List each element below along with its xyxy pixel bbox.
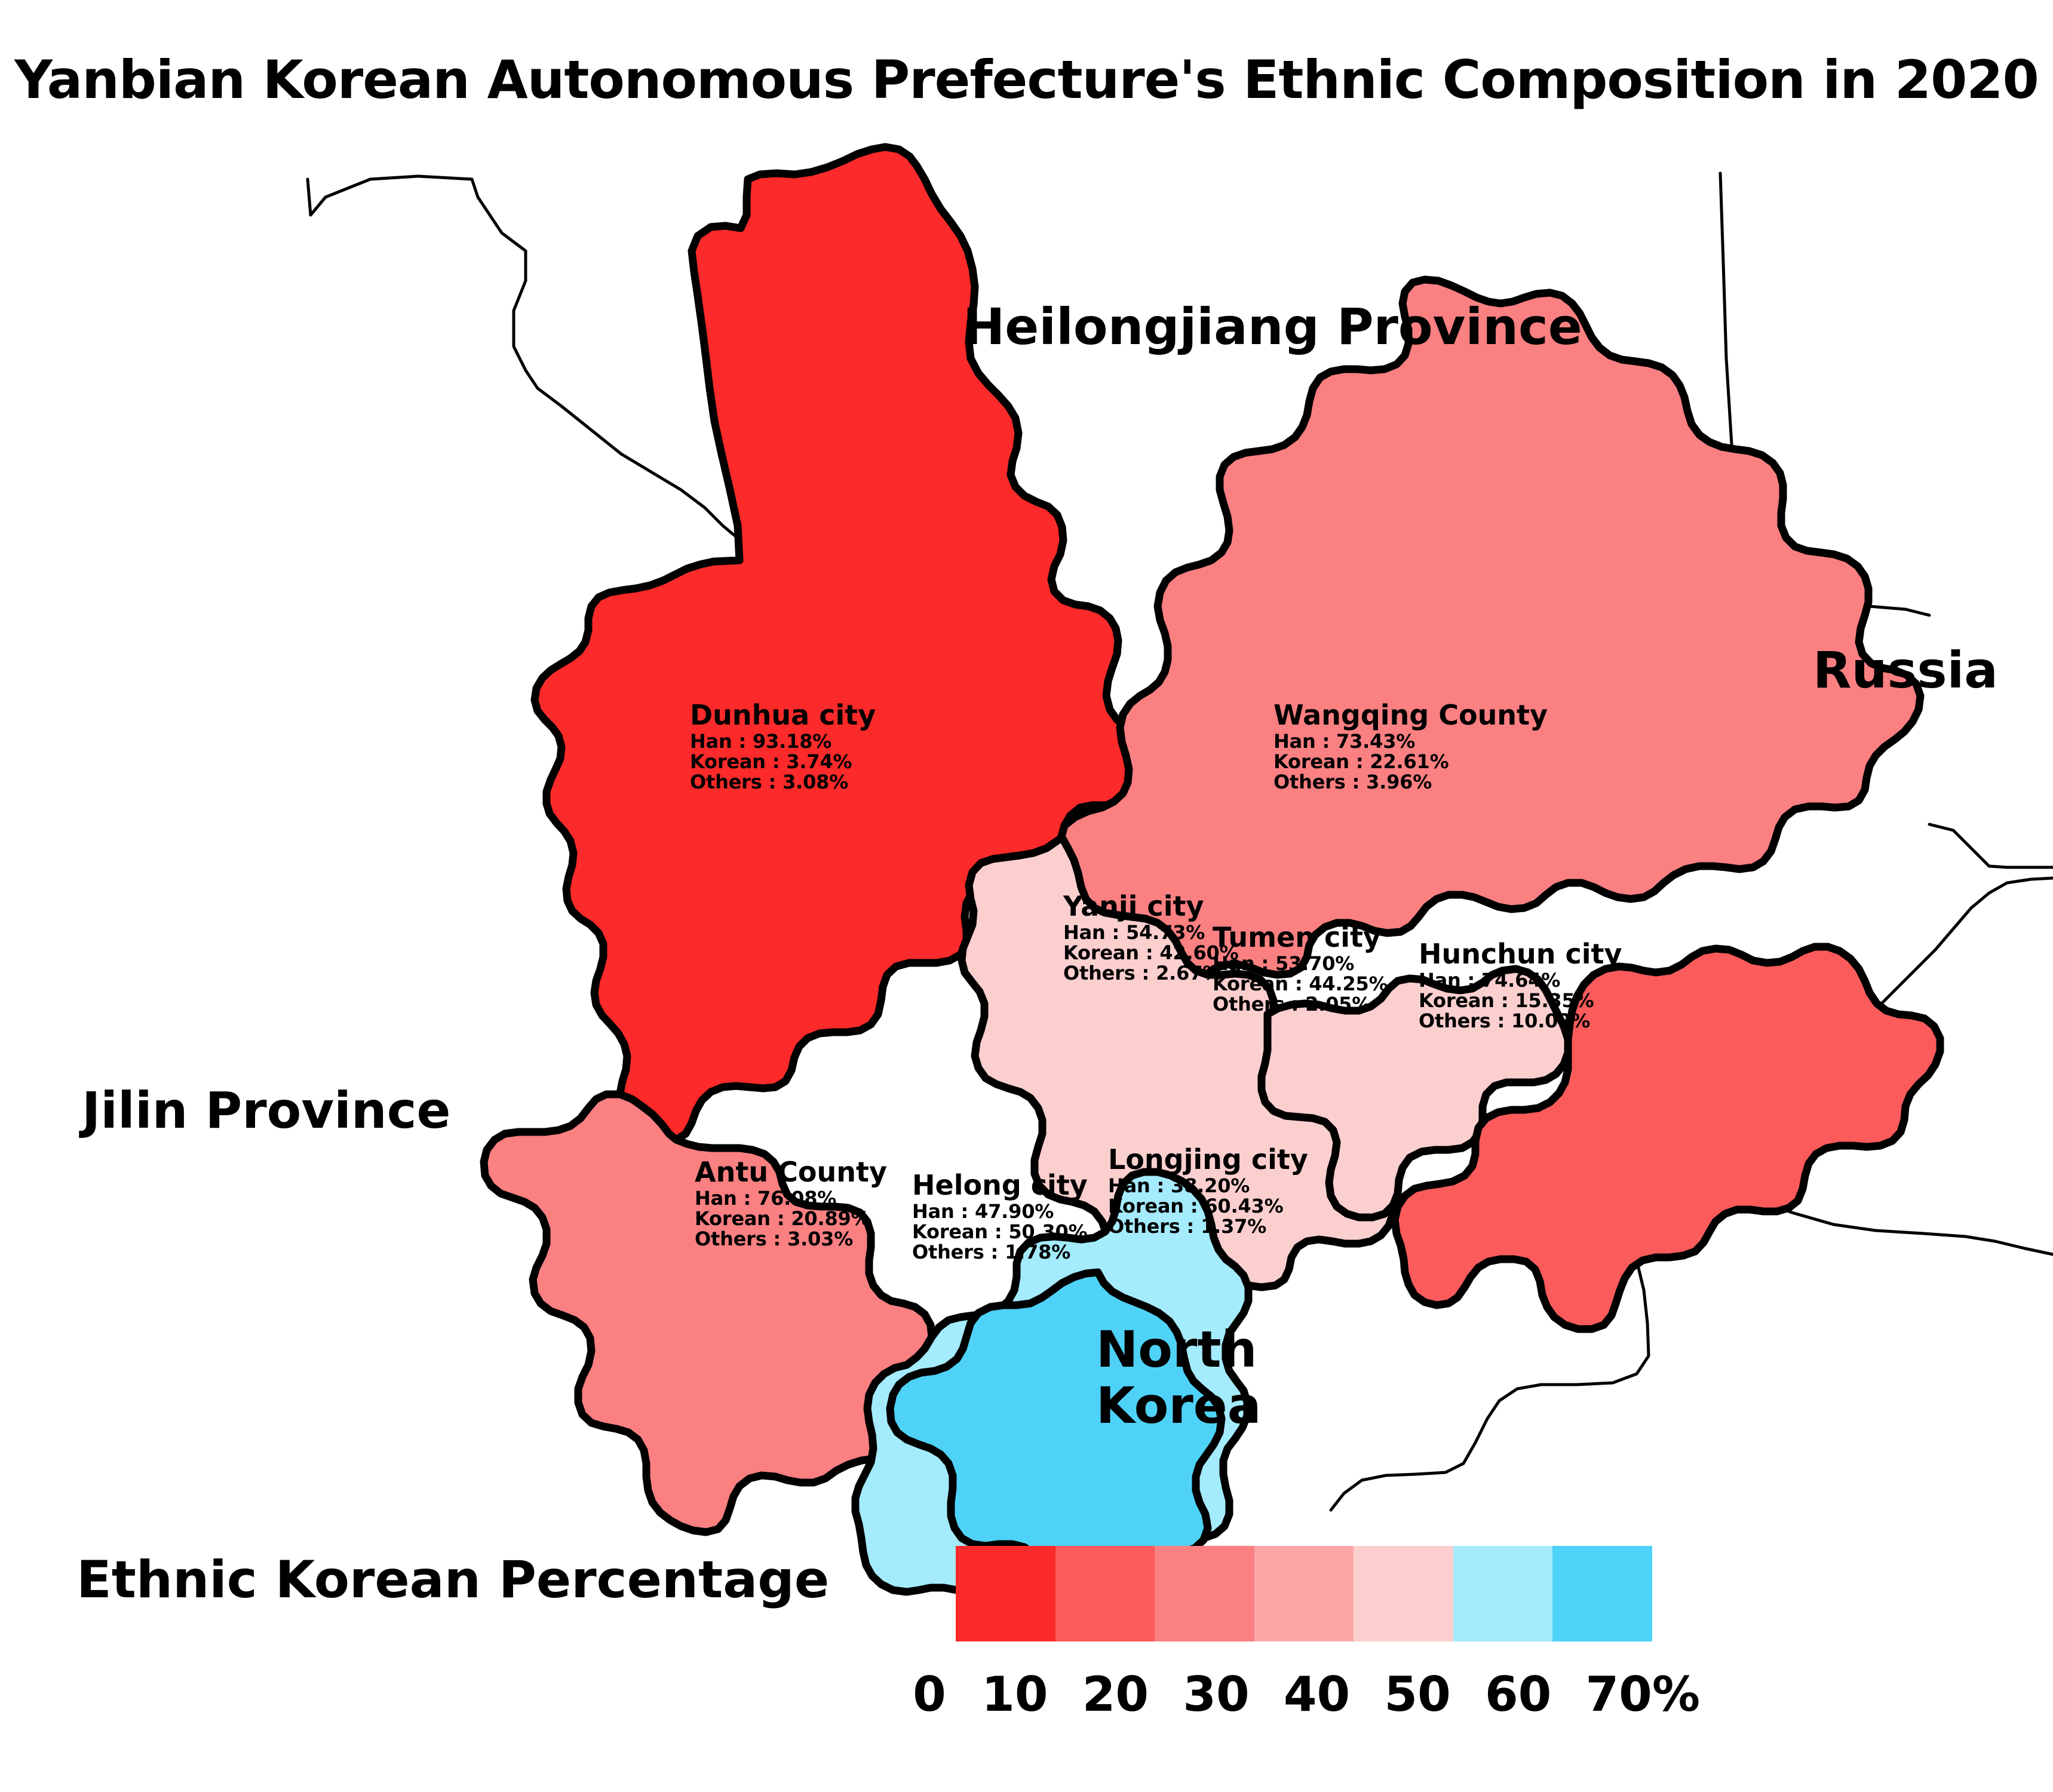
region-han-tumen: Han : 53.70% <box>1213 954 1388 974</box>
region-han-antu: Han : 76.08% <box>695 1189 887 1209</box>
region-name-yanji: Yanji city <box>1063 892 1238 921</box>
region-label-longjing: Longjing city Han : 38.20% Korean : 60.4… <box>1108 1145 1308 1236</box>
region-others-tumen: Others : 2.05% <box>1213 995 1388 1015</box>
region-label-hunchun: Hunchun city Han : 74.64% Korean : 15.35… <box>1419 940 1622 1031</box>
legend-swatch-3 <box>1254 1546 1354 1641</box>
map-svg <box>0 0 2053 1792</box>
region-korean-helong: Korean : 50.30% <box>912 1222 1088 1242</box>
place-label-heilongjiang: Heilongjiang Province <box>963 299 1582 355</box>
legend-swatch-6 <box>1552 1546 1652 1641</box>
region-han-dunhua: Han : 93.18% <box>690 732 876 752</box>
legend-tick-4: 40 <box>1284 1667 1350 1722</box>
legend-tick-3: 30 <box>1183 1667 1249 1722</box>
legend-title: Ethnic Korean Percentage <box>76 1550 829 1610</box>
legend-tick-labels: 010203040506070% <box>912 1667 1700 1722</box>
legend-tick-1: 10 <box>981 1667 1048 1722</box>
region-korean-antu: Korean : 20.89% <box>695 1209 887 1229</box>
legend-tick-5: 50 <box>1384 1667 1450 1722</box>
region-han-helong: Han : 47.90% <box>912 1202 1088 1222</box>
legend-tick-7: 70% <box>1586 1667 1700 1722</box>
legend-tick-6: 60 <box>1485 1667 1551 1722</box>
legend-swatch-1 <box>1055 1546 1155 1641</box>
place-label-north-korea-line1: North <box>1096 1321 1261 1377</box>
region-name-hunchun: Hunchun city <box>1419 940 1622 969</box>
region-korean-longjing: Korean : 60.43% <box>1108 1196 1308 1217</box>
place-label-north-korea: North Korea <box>1096 1321 1261 1434</box>
legend-swatch-5 <box>1453 1546 1553 1641</box>
region-others-hunchun: Others : 10.02% <box>1419 1011 1622 1032</box>
region-label-antu: Antu County Han : 76.08% Korean : 20.89%… <box>695 1158 887 1249</box>
region-han-wangqing: Han : 73.43% <box>1273 732 1548 752</box>
legend: Ethnic Korean Percentage <box>0 1529 2053 1756</box>
legend-color-scale <box>956 1546 1652 1641</box>
legend-tick-0: 0 <box>912 1667 947 1722</box>
legend-swatch-2 <box>1155 1546 1254 1641</box>
region-name-tumen: Tumen city <box>1213 923 1388 952</box>
region-korean-tumen: Korean : 44.25% <box>1213 974 1388 995</box>
region-others-antu: Others : 3.03% <box>695 1229 887 1250</box>
region-name-dunhua: Dunhua city <box>690 701 876 730</box>
region-label-wangqing: Wangqing County Han : 73.43% Korean : 22… <box>1273 701 1548 792</box>
region-korean-hunchun: Korean : 15.35% <box>1419 991 1622 1011</box>
region-han-hunchun: Han : 74.64% <box>1419 971 1622 991</box>
legend-swatch-0 <box>956 1546 1055 1641</box>
region-name-wangqing: Wangqing County <box>1273 701 1548 730</box>
legend-tick-2: 20 <box>1082 1667 1149 1722</box>
region-others-longjing: Others : 1.37% <box>1108 1217 1308 1237</box>
place-label-north-korea-line2: Korea <box>1096 1377 1261 1434</box>
region-name-longjing: Longjing city <box>1108 1145 1308 1174</box>
region-name-helong: Helong city <box>912 1171 1088 1200</box>
region-label-dunhua: Dunhua city Han : 93.18% Korean : 3.74% … <box>690 701 876 792</box>
legend-swatch-4 <box>1354 1546 1453 1641</box>
region-others-helong: Others : 1.78% <box>912 1242 1088 1263</box>
region-name-antu: Antu County <box>695 1158 887 1187</box>
region-label-helong: Helong city Han : 47.90% Korean : 50.30%… <box>912 1171 1088 1262</box>
region-others-dunhua: Others : 3.08% <box>690 772 876 793</box>
region-korean-wangqing: Korean : 22.61% <box>1273 752 1548 772</box>
place-label-jilin: Jilin Province <box>82 1082 451 1139</box>
region-korean-dunhua: Korean : 3.74% <box>690 752 876 772</box>
place-label-russia: Russia <box>1813 642 1998 698</box>
region-others-wangqing: Others : 3.96% <box>1273 772 1548 793</box>
region-han-longjing: Han : 38.20% <box>1108 1176 1308 1196</box>
map-canvas: Dunhua city Han : 93.18% Korean : 3.74% … <box>0 0 2053 1792</box>
region-label-tumen: Tumen city Han : 53.70% Korean : 44.25% … <box>1213 923 1388 1014</box>
